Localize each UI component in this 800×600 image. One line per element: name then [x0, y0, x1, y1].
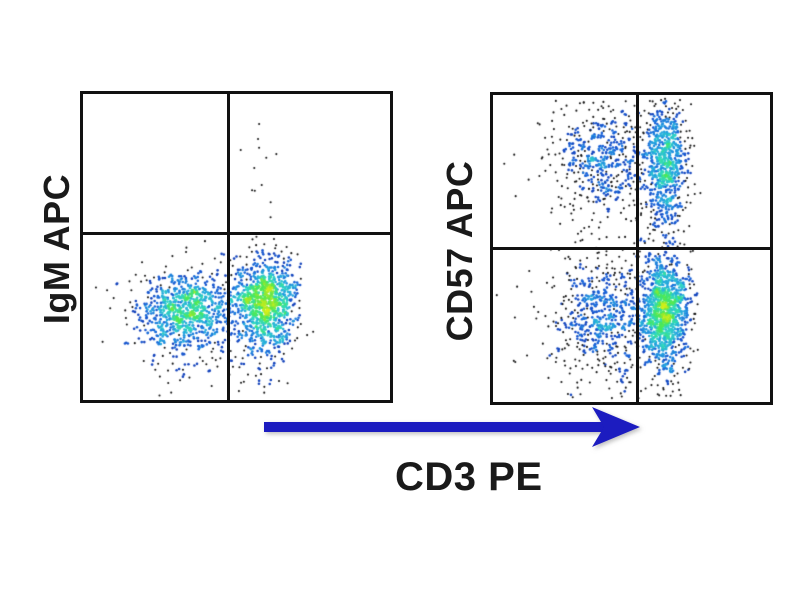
x-axis-label: CD3 PE — [395, 455, 543, 500]
left-panel-vertical-quadrant-line — [227, 94, 230, 400]
flow-cytometry-figure: IgM APC CD57 APC CD3 PE — [0, 0, 800, 600]
right-arrow-icon — [262, 405, 647, 460]
right-panel-horizontal-quadrant-line — [493, 247, 770, 250]
left-dot-plot-panel — [80, 91, 393, 403]
right-dot-plot-panel — [490, 92, 773, 405]
left-panel-scatter-canvas — [83, 94, 390, 400]
right-panel-y-axis-label: CD57 APC — [439, 146, 481, 356]
left-panel-horizontal-quadrant-line — [83, 232, 390, 235]
left-panel-y-axis-label: IgM APC — [36, 149, 78, 349]
